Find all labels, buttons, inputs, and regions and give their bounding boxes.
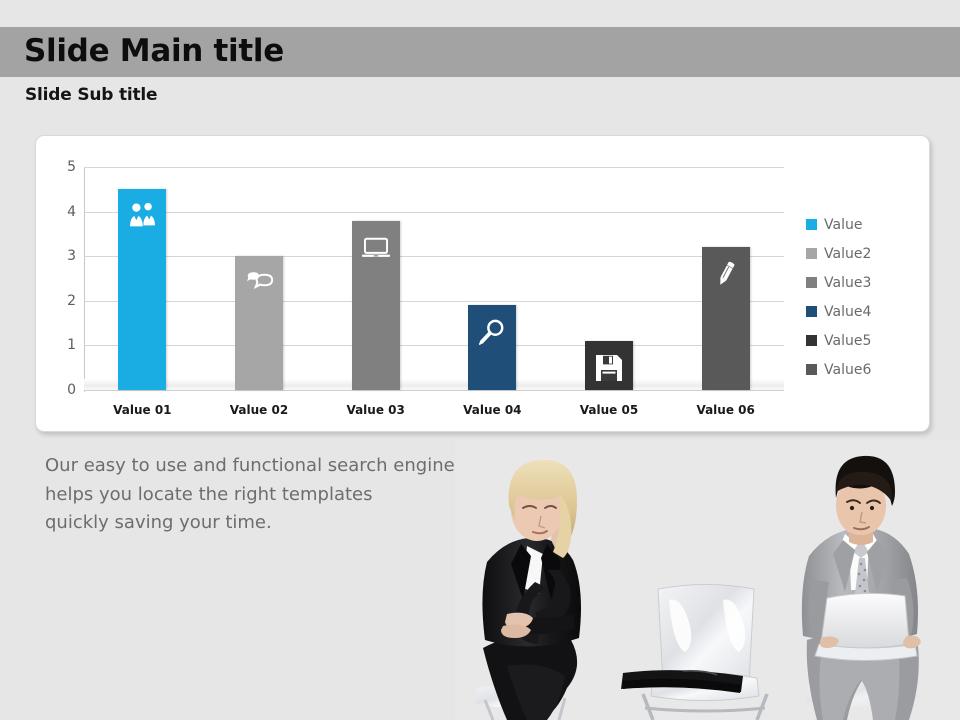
legend-item-4[interactable]: Value4 (806, 297, 926, 326)
y-axis-tick-3: 3 (54, 249, 76, 263)
chat-bubbles-icon (235, 268, 283, 298)
x-axis-label-6: Value 06 (671, 403, 781, 417)
laptop-icon (352, 233, 400, 263)
chart-card: 543210 Value 01Value 02Value 03Value 04V… (35, 135, 930, 432)
legend-item-1[interactable]: Value (806, 210, 926, 239)
bar-5[interactable] (585, 341, 633, 390)
x-axis-label-3: Value 03 (321, 403, 431, 417)
legend-label: Value3 (824, 275, 871, 291)
legend-swatch-icon (806, 306, 817, 317)
description-text: Our easy to use and functional search en… (45, 452, 505, 538)
legend-swatch-icon (806, 219, 817, 230)
legend-swatch-icon (806, 277, 817, 288)
page-title: Slide Main title (24, 29, 284, 73)
legend-label: Value2 (824, 246, 871, 262)
gridline (84, 212, 784, 213)
bar-2[interactable] (235, 256, 283, 390)
gridline (84, 256, 784, 257)
gridline (84, 167, 784, 168)
people-photo-illustration (455, 440, 960, 720)
floppy-save-icon (585, 353, 633, 383)
legend-swatch-icon (806, 248, 817, 259)
legend-item-5[interactable]: Value5 (806, 326, 926, 355)
people-icon (118, 201, 166, 231)
x-axis-label-2: Value 02 (204, 403, 314, 417)
legend-swatch-icon (806, 335, 817, 346)
legend-item-2[interactable]: Value2 (806, 239, 926, 268)
pen-icon (702, 259, 750, 289)
people-photo (455, 440, 960, 720)
x-axis-label-4: Value 04 (437, 403, 547, 417)
gridline (84, 345, 784, 346)
description-line-3: quickly saving your time. (45, 509, 505, 538)
chart-legend: ValueValue2Value3Value4Value5Value6 (806, 210, 926, 384)
legend-item-6[interactable]: Value6 (806, 355, 926, 384)
legend-label: Value6 (824, 362, 871, 378)
bar-4[interactable] (468, 305, 516, 390)
x-axis-label-5: Value 05 (554, 403, 664, 417)
legend-label: Value4 (824, 304, 871, 320)
bar-chart: 543210 Value 01Value 02Value 03Value 04V… (36, 136, 931, 433)
bar-1[interactable] (118, 189, 166, 390)
x-axis-label-1: Value 01 (87, 403, 197, 417)
y-axis-tick-1: 1 (54, 338, 76, 352)
page-subtitle: Slide Sub title (25, 85, 157, 105)
legend-item-3[interactable]: Value3 (806, 268, 926, 297)
y-axis-tick-2: 2 (54, 294, 76, 308)
legend-label: Value (824, 217, 862, 233)
description-line-1: Our easy to use and functional search en… (45, 452, 505, 481)
legend-swatch-icon (806, 364, 817, 375)
legend-label: Value5 (824, 333, 871, 349)
bar-6[interactable] (702, 247, 750, 390)
y-axis-tick-4: 4 (54, 205, 76, 219)
y-axis-tick-0: 0 (54, 383, 76, 397)
baseline (84, 390, 784, 391)
description-line-2: helps you locate the right templates (45, 481, 505, 510)
bar-3[interactable] (352, 221, 400, 390)
y-axis-tick-5: 5 (54, 160, 76, 174)
gridline (84, 301, 784, 302)
magnifier-icon (468, 317, 516, 347)
y-axis-line (84, 167, 85, 392)
